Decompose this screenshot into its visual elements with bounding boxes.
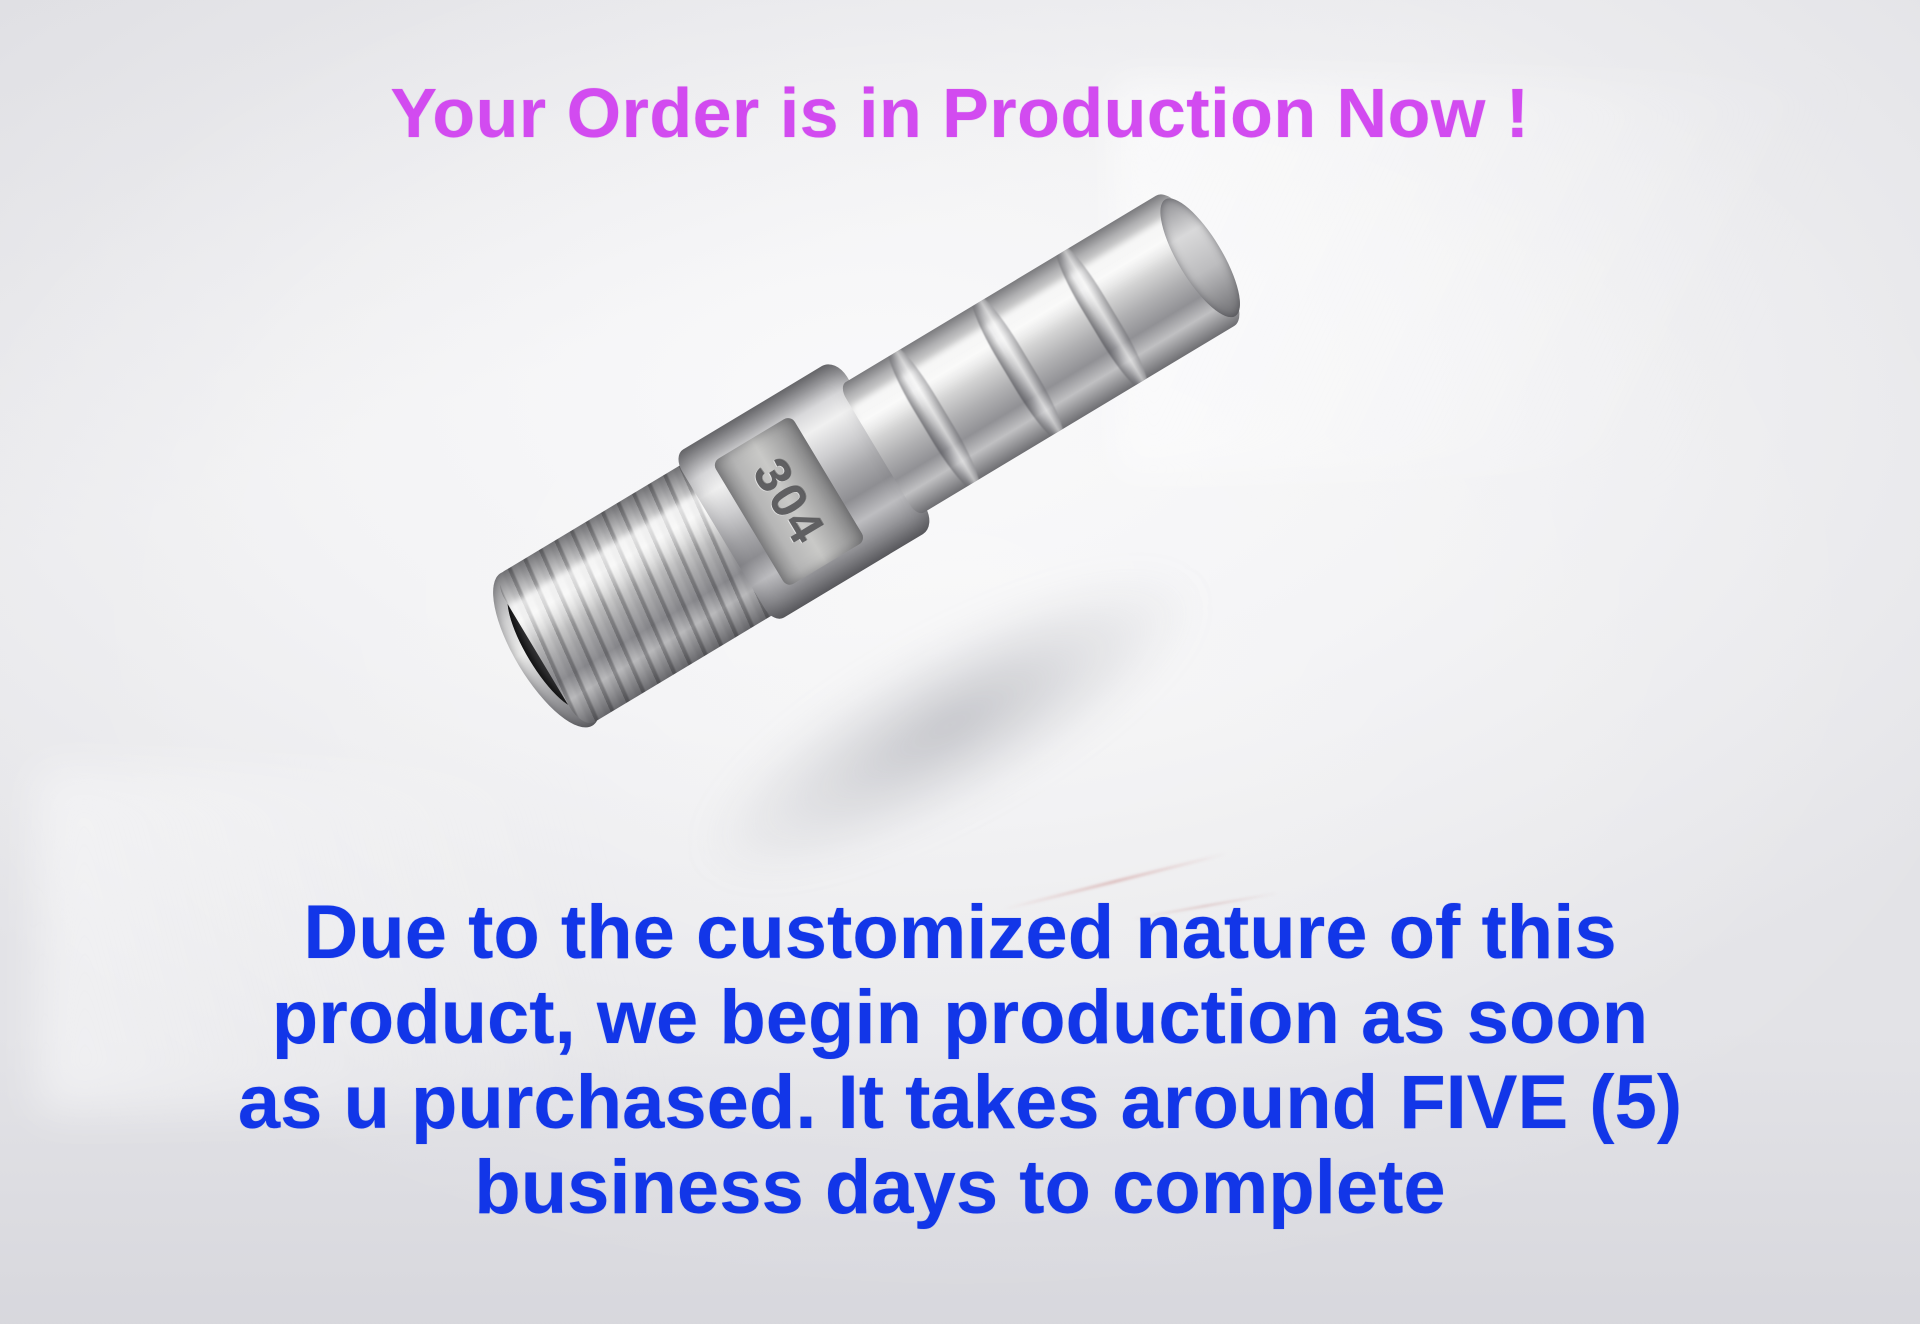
- production-notice-text: Due to the customized nature of this pro…: [90, 890, 1830, 1230]
- headline-order-in-production: Your Order is in Production Now !: [0, 78, 1920, 148]
- promo-banner: 304 Your Order is in Production Now ! Du…: [0, 0, 1920, 1324]
- notice-line-4: business days to complete: [90, 1145, 1830, 1230]
- notice-line-2: product, we begin production as soon: [90, 975, 1830, 1060]
- notice-line-3: as u purchased. It takes around FIVE (5): [90, 1060, 1830, 1145]
- notice-line-1: Due to the customized nature of this: [90, 890, 1830, 975]
